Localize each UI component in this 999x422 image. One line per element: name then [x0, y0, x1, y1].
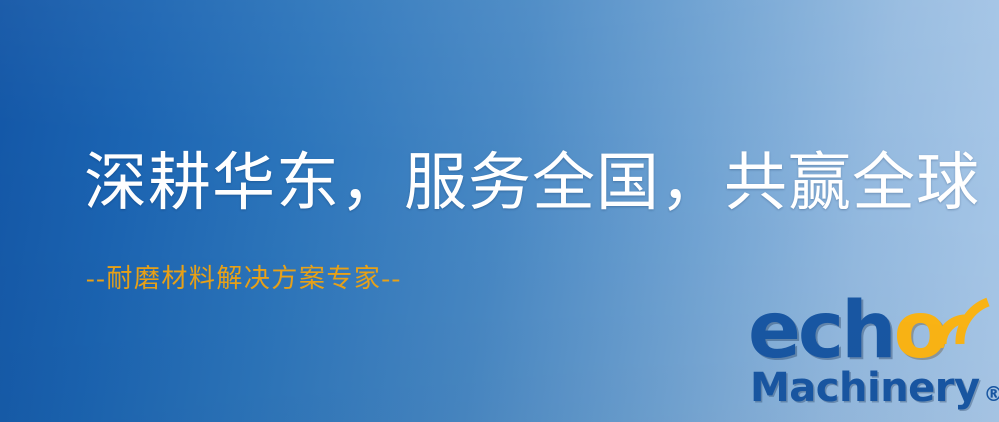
logo-text-ech: ech: [748, 296, 894, 368]
banner-headline: 深耕华东，服务全国，共赢全球: [84, 150, 980, 216]
registered-trademark-icon: ®: [984, 384, 999, 404]
company-logo[interactable]: ech o Machinery ®: [748, 296, 999, 416]
signal-arcs-icon: [936, 292, 998, 348]
logo-subtext-group: Machinery ®: [750, 368, 999, 408]
hero-banner: 深耕华东，服务全国，共赢全球 --耐磨材料解决方案专家-- ech o Mach…: [0, 0, 999, 422]
logo-wordmark: ech o: [748, 296, 944, 368]
banner-subtitle: --耐磨材料解决方案专家--: [86, 265, 402, 294]
logo-text-machinery: Machinery: [750, 368, 980, 408]
